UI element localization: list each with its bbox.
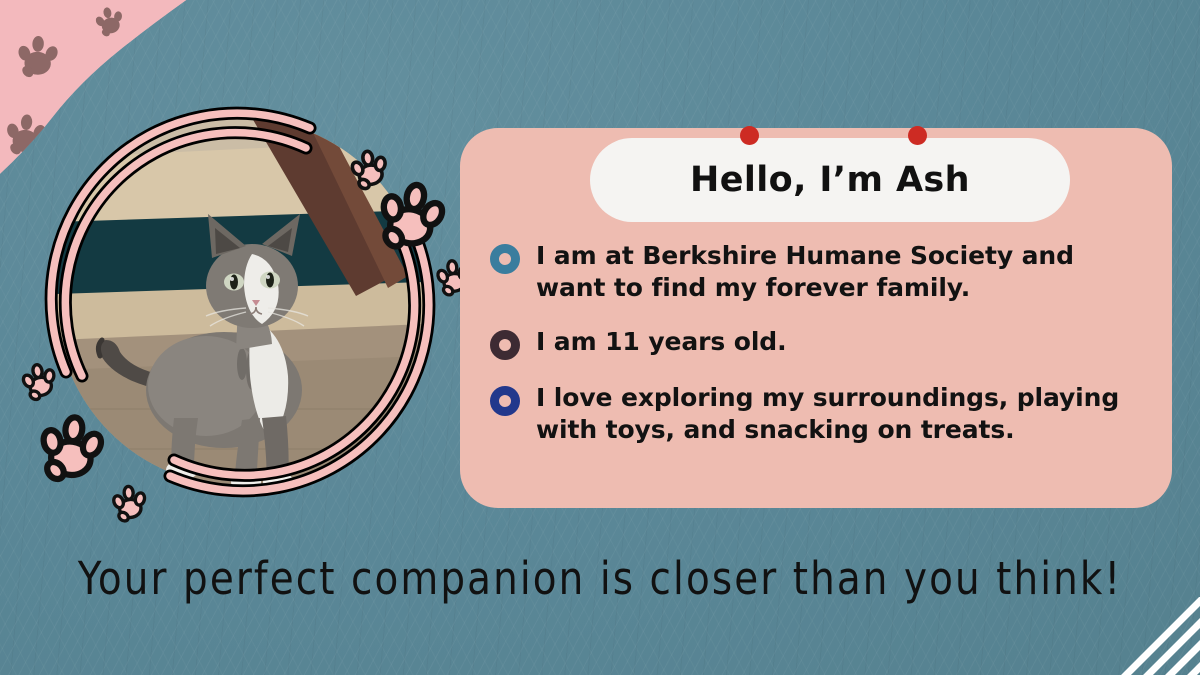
page-title: Hello, I’m Ash: [690, 160, 970, 200]
pet-name-title-pill: Hello, I’m Ash: [590, 138, 1070, 222]
list-item: I love exploring my surroundings, playin…: [490, 382, 1140, 446]
corner-stripe-decoration: [1060, 597, 1200, 675]
list-item: I am 11 years old.: [490, 326, 1140, 360]
red-dot-right-icon: [908, 126, 927, 145]
cat-photo-frame: [56, 118, 424, 486]
cat-photo-image: [56, 118, 424, 486]
pet-adoption-poster: Hello, I’m Ash I am at Berkshire Humane …: [0, 0, 1200, 675]
red-dot-left-icon: [740, 126, 759, 145]
list-item: I am at Berkshire Humane Society and wan…: [490, 240, 1140, 304]
list-item-text: I am 11 years old.: [536, 326, 787, 358]
bullet-marker-icon: [490, 386, 520, 416]
poster-tagline: Your perfect companion is closer than yo…: [24, 552, 1176, 605]
bullet-marker-icon: [490, 330, 520, 360]
bullet-marker-icon: [490, 244, 520, 274]
list-item-text: I love exploring my surroundings, playin…: [536, 382, 1140, 446]
pet-facts-list: I am at Berkshire Humane Society and wan…: [490, 240, 1140, 446]
cat-photo: [56, 118, 424, 486]
pet-info-card: Hello, I’m Ash I am at Berkshire Humane …: [460, 128, 1172, 508]
list-item-text: I am at Berkshire Humane Society and wan…: [536, 240, 1140, 304]
